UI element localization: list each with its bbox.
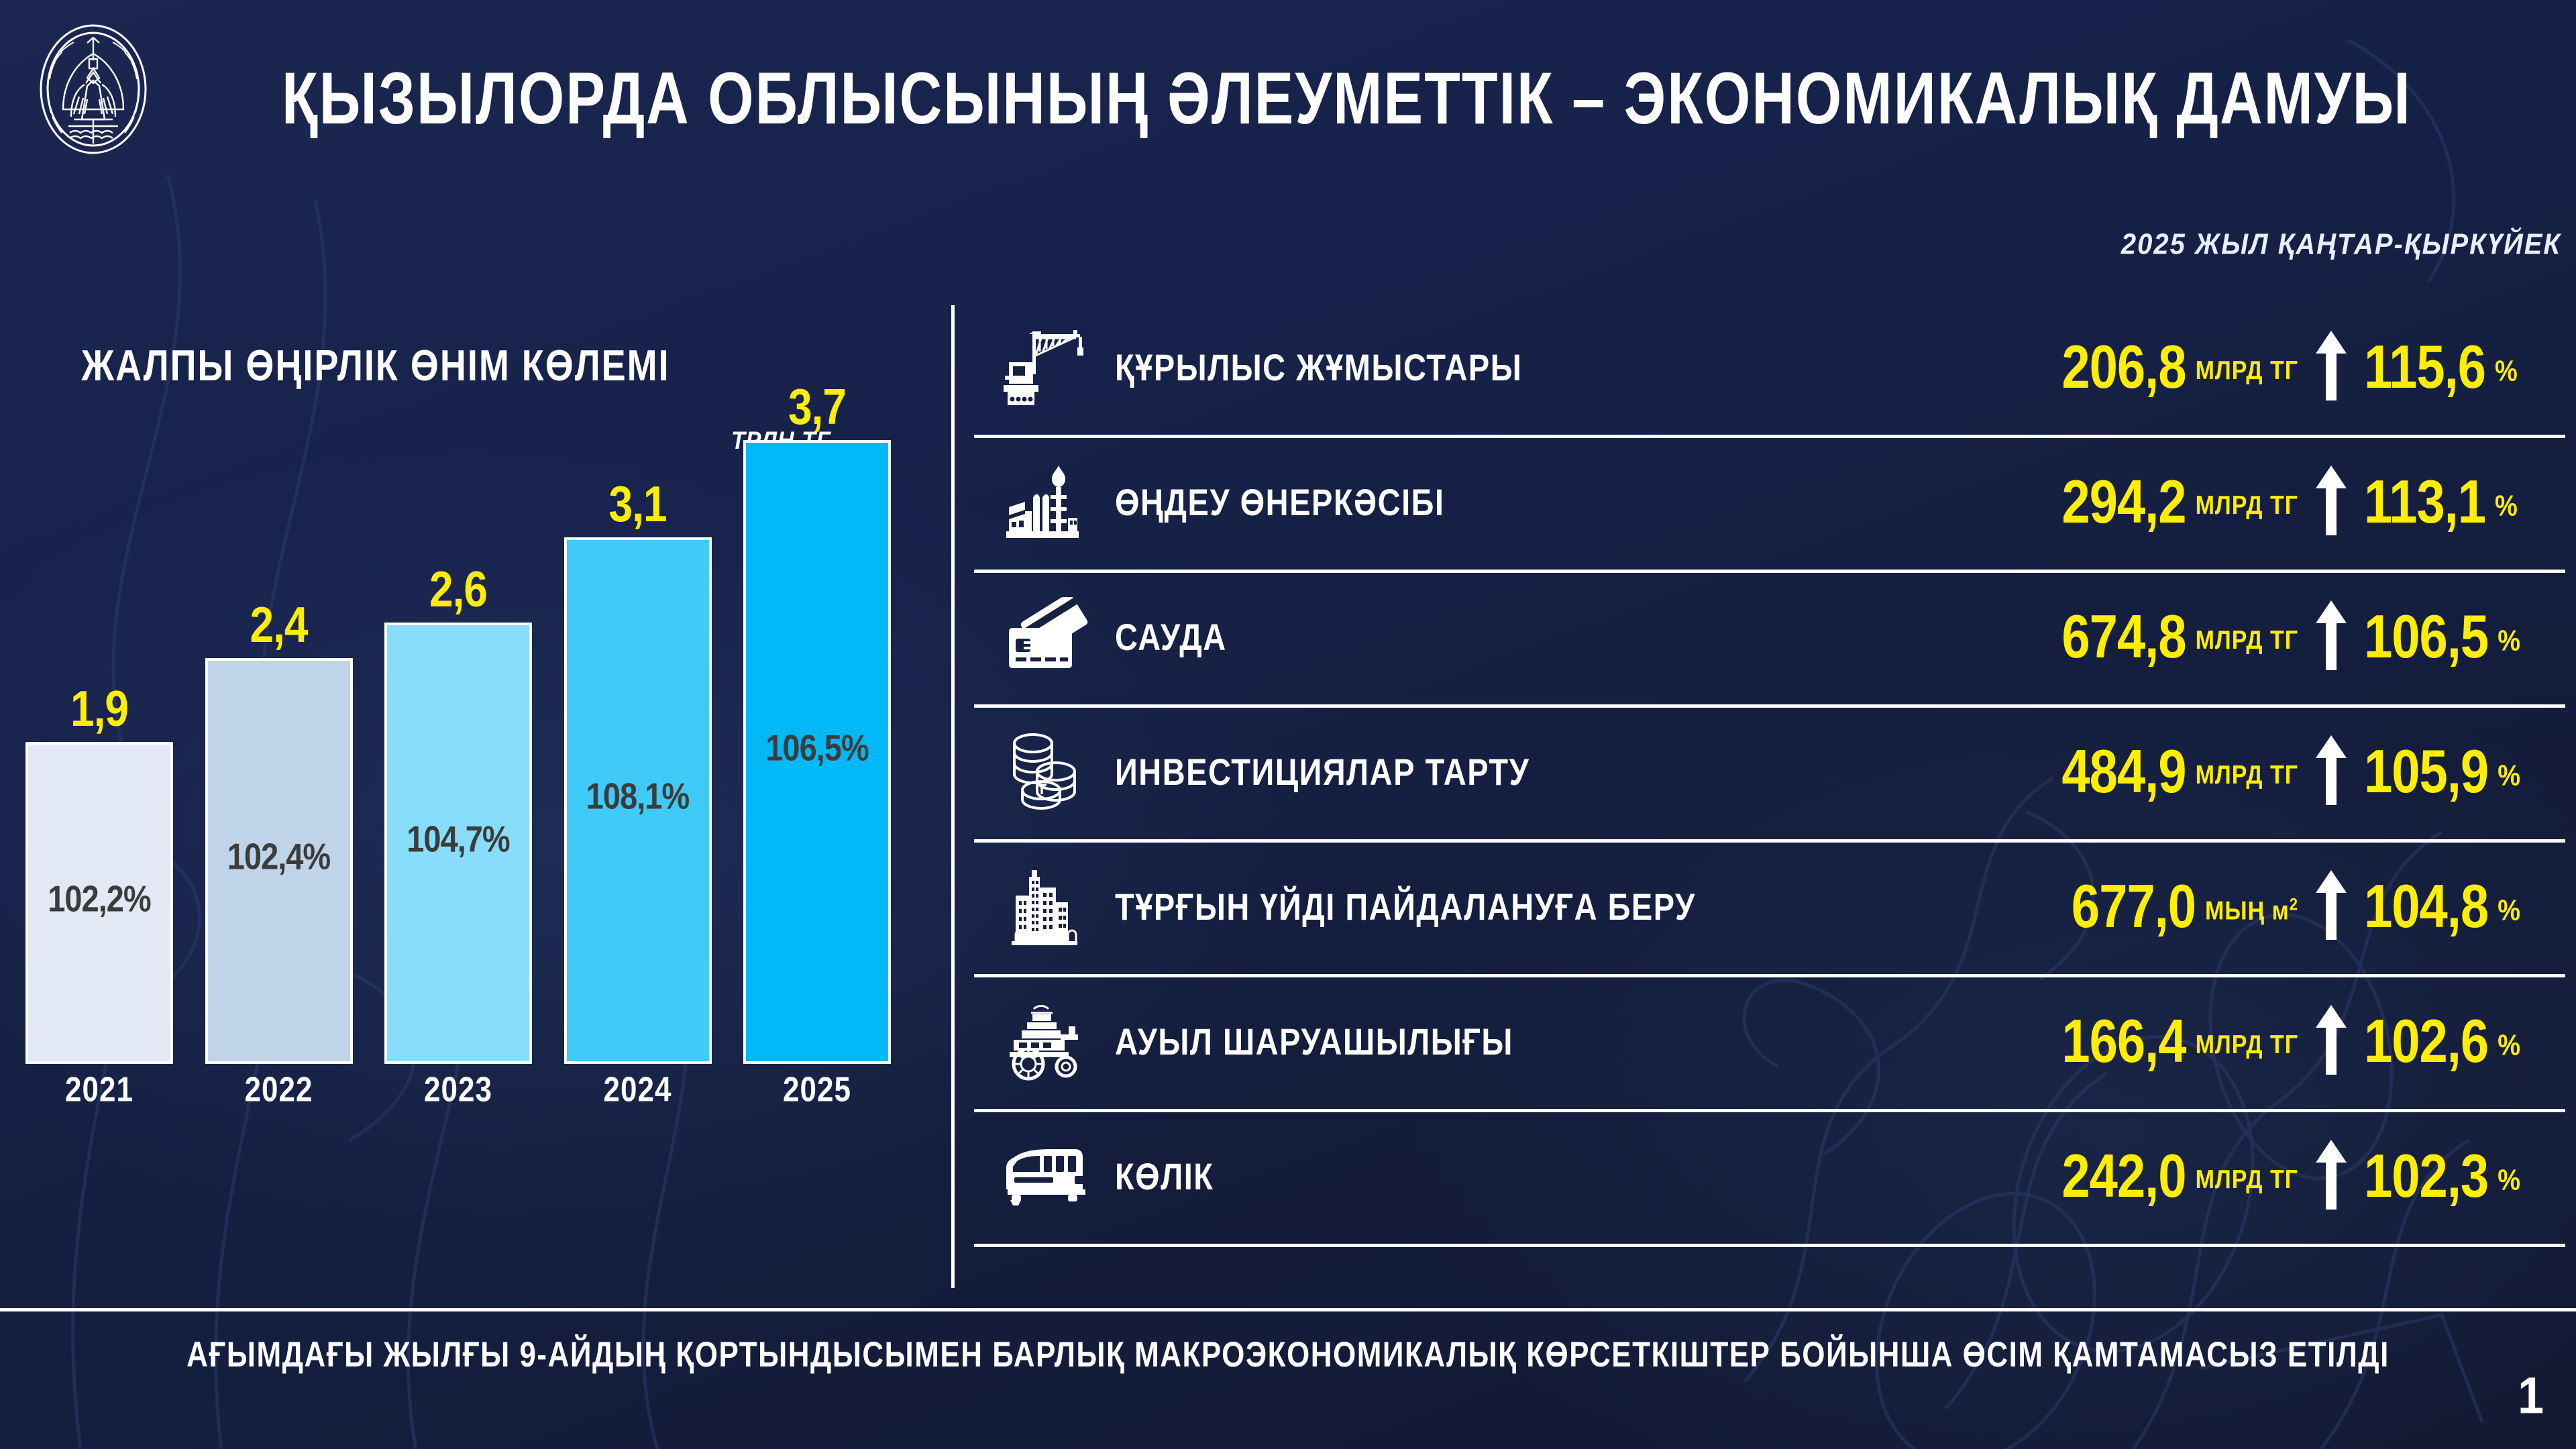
factory-icon [974,460,1115,544]
indicator-unit: МЛРД ТГ [2196,753,2298,791]
percent-sign: % [2498,885,2520,928]
indicator-row[interactable]: АУЫЛ ШАРУАШЫЛЫҒЫ166,4МЛРД ТГ 102,6% [974,977,2565,1112]
bar-inside-label: 108,1% [586,775,689,818]
indicator-unit-superscript: 2 [2290,895,2298,914]
indicator-row[interactable]: ИНВЕСТИЦИЯЛАР ТАРТУ484,9МЛРД ТГ 105,9% [974,708,2565,843]
indicator-list: ҚҰРЫЛЫС ЖҰМЫСТАРЫ206,8МЛРД ТГ 115,6% ӨҢД… [974,303,2565,1247]
indicator-label: ҚҰРЫЛЫС ЖҰМЫСТАРЫ [1115,345,1936,389]
period-label: 2025 ЖЫЛ ҚАҢТАР-ҚЫРКҮЙЕК [2121,228,2561,262]
indicator-unit-text: МЛРД ТГ [2196,1165,2298,1194]
indicator-percent: 106,5 [2364,606,2488,667]
arrow-up-icon [2316,870,2347,940]
bar-value-label: 2,6 [429,563,487,614]
indicator-percent: 104,8 [2364,876,2488,937]
indicator-percent-group: 105,9% [2364,747,2565,798]
indicator-row-inner: ТҰРҒЫН ҮЙДІ ПАЙДАЛАНУҒА БЕРУ677,0МЫҢ м2 … [974,843,2565,971]
percent-sign: % [2495,481,2518,523]
bar-chart: 1,9102,2%20212,4102,4%20222,6104,7%20233… [25,483,891,1107]
page-number: 1 [2518,1366,2544,1425]
grp-chart-panel: ЖАЛПЫ ӨҢІРЛІК ӨНІМ КӨЛЕМІ ТРЛН ТГ 1,9102… [0,315,946,1174]
bar-inside-label: 102,4% [227,835,330,878]
indicator-percent: 102,6 [2364,1011,2488,1072]
indicator-value-group: 206,8МЛРД ТГ [1936,342,2298,393]
indicator-unit-text: МЫҢ м [2205,896,2290,925]
indicator-unit: МЛРД ТГ [2196,349,2298,386]
arrow-up-icon [2316,1005,2347,1075]
percent-sign: % [2498,1155,2520,1197]
indicator-unit-text: МЛРД ТГ [2196,626,2298,655]
indicator-unit: МЫҢ м2 [2205,887,2298,926]
indicator-percent-group: 113,1% [2364,477,2565,528]
bar-category-label: 2021 [65,1071,133,1110]
indicator-unit-text: МЛРД ТГ [2196,491,2298,520]
indicator-percent-group: 104,8% [2364,881,2565,932]
bar-value-label: 3,7 [788,381,846,432]
indicator-unit: МЛРД ТГ [2196,619,2298,656]
vertical-divider [951,305,955,1288]
indicator-label: ӨҢДЕУ ӨНЕРКӘСІБІ [1115,480,1936,524]
page-title: ҚЫЗЫЛОРДА ОБЛЫСЫНЫҢ ӘЛЕУМЕТТІК – ЭКОНОМИ… [282,62,2133,135]
bar-value-label: 2,4 [250,599,308,650]
indicator-label: ИНВЕСТИЦИЯЛАР ТАРТУ [1115,750,1936,794]
indicator-unit-text: МЛРД ТГ [2196,761,2298,790]
crane-icon [974,327,1115,408]
indicator-value: 294,2 [2061,472,2186,533]
indicator-percent: 113,1 [2364,472,2485,533]
arrow-up-icon [2316,1140,2347,1213]
indicator-row[interactable]: КӨЛІК242,0МЛРД ТГ 102,3% [974,1112,2565,1247]
indicator-percent-group: 102,6% [2364,1016,2565,1067]
bar-rect: 104,7% [384,623,532,1064]
bar-inside-label: 106,5% [765,726,868,769]
bar-value-label: 1,9 [70,683,128,734]
coins-icon [974,729,1115,816]
bar-rect: 108,1% [564,537,712,1064]
indicator-percent-group: 115,6% [2364,342,2565,393]
indicator-value: 166,4 [2061,1011,2186,1072]
indicator-value-group: 677,0МЫҢ м2 [1936,881,2298,932]
indicator-unit: МЛРД ТГ [2196,1158,2298,1195]
bar-category-label: 2023 [424,1071,492,1110]
bar-category-label: 2024 [604,1071,672,1110]
percent-sign: % [2495,346,2518,388]
indicator-value: 677,0 [2072,876,2196,937]
indicator-row[interactable]: САУДА674,8МЛРД ТГ 106,5% [974,573,2565,708]
indicator-label: АУЫЛ ШАРУАШЫЛЫҒЫ [1115,1020,1936,1063]
indicator-unit-text: МЛРД ТГ [2196,356,2298,385]
bar-category-label: 2022 [245,1071,313,1110]
arrow-up-icon [2316,1005,2347,1078]
bar-group-2022: 2,4102,4%2022 [205,603,353,1107]
kyzylorda-region-emblem: ҚЫЗЫЛОРДА ОБЛЫСЫ [23,19,164,160]
indicator-value-group: 294,2МЛРД ТГ [1936,477,2298,528]
indicator-value-group: 166,4МЛРД ТГ [1936,1016,2298,1067]
indicator-unit: МЛРД ТГ [2196,1023,2298,1061]
bar-group-2025: 3,7106,5%2025 [743,385,891,1107]
bus-icon [974,1141,1115,1212]
percent-sign: % [2498,616,2520,658]
chart-title: ЖАЛПЫ ӨҢІРЛІК ӨНІМ КӨЛЕМІ [0,341,751,390]
indicator-value-group: 484,9МЛРД ТГ [1936,747,2298,798]
arrow-up-icon [2316,331,2347,400]
indicator-percent-group: 102,3% [2364,1151,2565,1202]
footer-divider [0,1308,2576,1311]
indicator-value: 206,8 [2061,337,2186,398]
indicator-row-inner: ИНВЕСТИЦИЯЛАР ТАРТУ484,9МЛРД ТГ 105,9% [974,708,2565,836]
arrow-up-icon [2316,735,2347,808]
arrow-up-icon [2316,466,2347,539]
bar-rect: 102,4% [205,658,353,1064]
bar-group-2023: 2,6104,7%2023 [384,568,532,1107]
credit-card-icon [974,597,1115,678]
percent-sign: % [2498,1020,2520,1063]
bar-rect: 102,2% [25,742,173,1064]
indicator-row-inner: КӨЛІК242,0МЛРД ТГ 102,3% [974,1112,2565,1240]
indicator-row[interactable]: ҚҰРЫЛЫС ЖҰМЫСТАРЫ206,8МЛРД ТГ 115,6% [974,303,2565,438]
indicator-value: 484,9 [2061,741,2186,802]
indicator-row-inner: ӨҢДЕУ ӨНЕРКӘСІБІ294,2МЛРД ТГ 113,1% [974,438,2565,566]
bar-inside-label: 102,2% [48,877,150,920]
indicator-row-inner: ҚҰРЫЛЫС ЖҰМЫСТАРЫ206,8МЛРД ТГ 115,6% [974,303,2565,431]
arrow-up-icon [2316,600,2347,670]
indicator-percent: 115,6 [2364,337,2485,398]
percent-sign: % [2498,751,2520,793]
indicator-percent: 102,3 [2364,1146,2488,1207]
bar-rect: 106,5% [743,440,891,1064]
indicator-row-inner: САУДА674,8МЛРД ТГ 106,5% [974,573,2565,701]
arrow-up-icon [2316,870,2347,943]
arrow-up-icon [2316,331,2347,404]
indicator-label: КӨЛІК [1115,1155,1936,1198]
indicator-value-group: 242,0МЛРД ТГ [1936,1151,2298,1202]
footer-text: АҒЫМДАҒЫ ЖЫЛҒЫ 9-АЙДЫҢ ҚОРТЫНДЫСЫМЕН БАР… [0,1335,2576,1375]
arrow-up-icon [2316,600,2347,674]
tractor-icon [974,1000,1115,1083]
bar-group-2021: 1,9102,2%2021 [25,687,173,1107]
indicator-label: САУДА [1115,615,1936,659]
indicator-value-group: 674,8МЛРД ТГ [1936,612,2298,663]
indicator-row-inner: АУЫЛ ШАРУАШЫЛЫҒЫ166,4МЛРД ТГ 102,6% [974,977,2565,1106]
arrow-up-icon [2316,466,2347,535]
indicator-percent: 105,9 [2364,741,2488,802]
indicator-row[interactable]: ТҰРҒЫН ҮЙДІ ПАЙДАЛАНУҒА БЕРУ677,0МЫҢ м2 … [974,843,2565,977]
bar-group-2024: 3,1108,1%2024 [564,482,712,1107]
buildings-icon [974,863,1115,951]
indicator-label: ТҰРҒЫН ҮЙДІ ПАЙДАЛАНУҒА БЕРУ [1115,885,1936,928]
indicator-unit-text: МЛРД ТГ [2196,1030,2298,1059]
bar-value-label: 3,1 [609,478,667,529]
arrow-up-icon [2316,1140,2347,1210]
indicator-row[interactable]: ӨҢДЕУ ӨНЕРКӘСІБІ294,2МЛРД ТГ 113,1% [974,438,2565,573]
indicator-value: 242,0 [2061,1146,2186,1207]
indicator-percent-group: 106,5% [2364,612,2565,663]
bar-category-label: 2025 [783,1071,851,1110]
infographic-slide: ҚЫЗЫЛОРДА ОБЛЫСЫ ҚЫЗЫЛОРДА ОБЛЫСЫНЫҢ ӘЛЕ… [0,0,2576,1449]
indicator-value: 674,8 [2061,606,2186,667]
arrow-up-icon [2316,735,2347,805]
indicator-unit: МЛРД ТГ [2196,484,2298,521]
bar-inside-label: 104,7% [407,817,509,860]
